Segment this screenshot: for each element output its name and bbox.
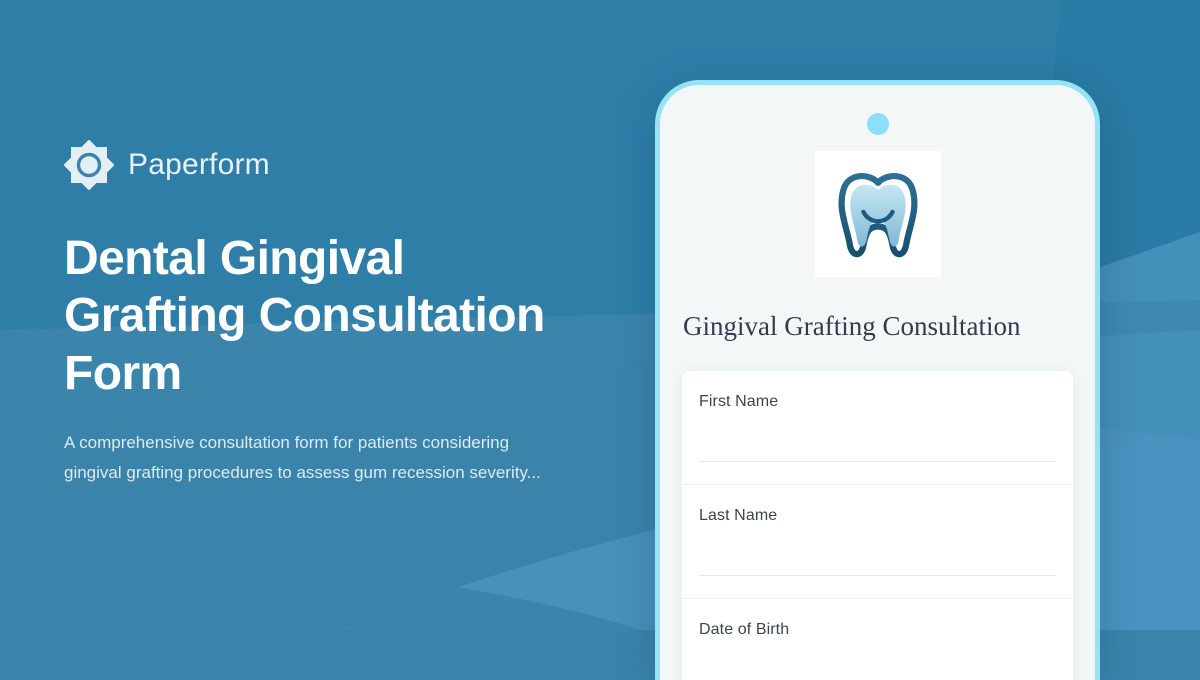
field-label: Last Name bbox=[699, 507, 1056, 525]
form-logo bbox=[815, 151, 941, 277]
field-last-name[interactable]: Last Name bbox=[682, 485, 1073, 599]
page-title: Dental Gingival Grafting Consultation Fo… bbox=[64, 230, 594, 402]
brand-name: Paperform bbox=[128, 150, 270, 180]
field-first-name[interactable]: First Name bbox=[682, 371, 1073, 485]
paperform-star-logo-icon bbox=[64, 140, 114, 190]
field-label: First Name bbox=[699, 393, 1056, 411]
field-label: Date of Birth bbox=[699, 621, 1056, 639]
brand-lockup: Paperform bbox=[64, 140, 624, 190]
smiling-tooth-icon bbox=[826, 162, 930, 266]
camera-dot-icon bbox=[867, 113, 889, 135]
page-description: A comprehensive consultation form for pa… bbox=[64, 428, 564, 489]
form-card: First Name Last Name Date of Birth bbox=[682, 371, 1073, 680]
field-date-of-birth[interactable]: Date of Birth bbox=[682, 599, 1073, 680]
hero-content: Paperform Dental Gingival Grafting Consu… bbox=[64, 140, 624, 489]
form-heading: Gingival Grafting Consultation bbox=[683, 310, 1072, 342]
last-name-input[interactable] bbox=[699, 575, 1056, 576]
phone-mockup: Gingival Grafting Consultation First Nam… bbox=[655, 80, 1100, 680]
first-name-input[interactable] bbox=[699, 461, 1056, 462]
